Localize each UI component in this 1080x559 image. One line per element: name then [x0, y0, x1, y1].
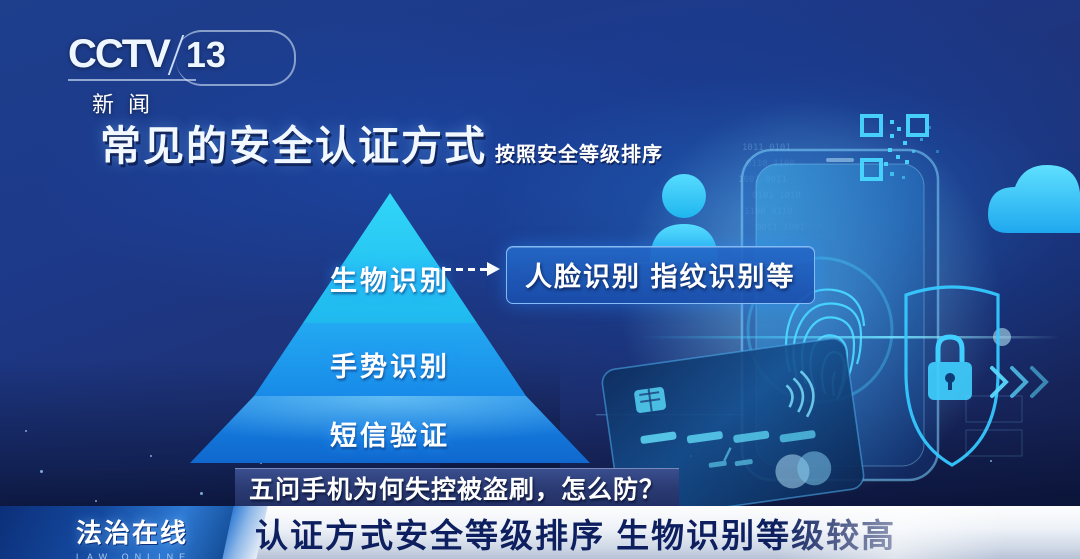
- callout-text: 人脸识别 指纹识别等: [525, 255, 796, 294]
- background-sparkle: [690, 455, 692, 457]
- qr-code-icon: [862, 116, 939, 179]
- cctv-underline: [68, 79, 196, 81]
- program-name-cn: 法治在线: [76, 513, 191, 550]
- cctv-wordmark: CCTV: [68, 32, 169, 77]
- background-sparkle: [860, 480, 862, 482]
- background-sparkle: [990, 460, 992, 462]
- dashed-arrow-right-icon: [432, 267, 504, 271]
- program-name-en: LAW ONLINE: [76, 552, 191, 559]
- security-level-pyramid: 生物识别 手势识别: [150, 193, 630, 463]
- graphic-subtitle: 按照安全等级排序: [495, 138, 663, 167]
- background-sparkle: [25, 430, 27, 432]
- headline-text: 五问手机为何失控被盗刷，怎么防？: [249, 470, 665, 506]
- arrow-shaft: [432, 268, 488, 271]
- chevron-right-triple-icon: [992, 368, 1046, 396]
- cloud-icon: [988, 165, 1080, 233]
- svg-text:1011 0101: 1011 0101: [742, 143, 791, 153]
- pyramid-label-sms: 短信验证: [150, 414, 630, 453]
- pyramid-tier-sms: 短信验证: [150, 396, 630, 463]
- pyramid-tier-gesture: 手势识别: [150, 323, 630, 396]
- graphic-title-block: 常见的安全认证方式 按照安全等级排序: [100, 112, 663, 172]
- ticker-shine-overlay: [780, 506, 1080, 559]
- background-sparkle: [40, 470, 43, 473]
- program-logo: 法治在线 LAW ONLINE: [76, 513, 191, 559]
- background-sparkle: [95, 500, 97, 502]
- cctv-ring-decoration: [176, 30, 296, 86]
- cctv-channel-logo: CCTV 13 新闻: [68, 32, 226, 119]
- svg-text:0011 1001: 0011 1001: [756, 223, 805, 233]
- background-sparkle: [200, 492, 203, 495]
- svg-text:1001 0011: 1001 0011: [738, 175, 787, 185]
- lower-third-ticker: 法治在线 LAW ONLINE 认证方式安全等级排序 生物识别等级较高: [0, 506, 1080, 559]
- broadcast-screenshot: 1011 0101 0110 1100 1001 0011 0101 1010 …: [0, 0, 1080, 559]
- smartphone-icon: [742, 150, 938, 480]
- arrow-head: [487, 262, 500, 276]
- svg-text:0110 1100: 0110 1100: [746, 159, 795, 169]
- callout-box: 人脸识别 指纹识别等: [506, 246, 815, 304]
- graphic-title: 常见的安全认证方式: [100, 112, 487, 172]
- headline-bar: 五问手机为何失控被盗刷，怎么防？: [235, 468, 679, 507]
- shield-lock-icon: [906, 287, 998, 465]
- svg-text:1100 0110: 1100 0110: [744, 207, 793, 217]
- pyramid-label-gesture: 手势识别: [150, 345, 630, 384]
- svg-text:0101 1010: 0101 1010: [752, 191, 801, 201]
